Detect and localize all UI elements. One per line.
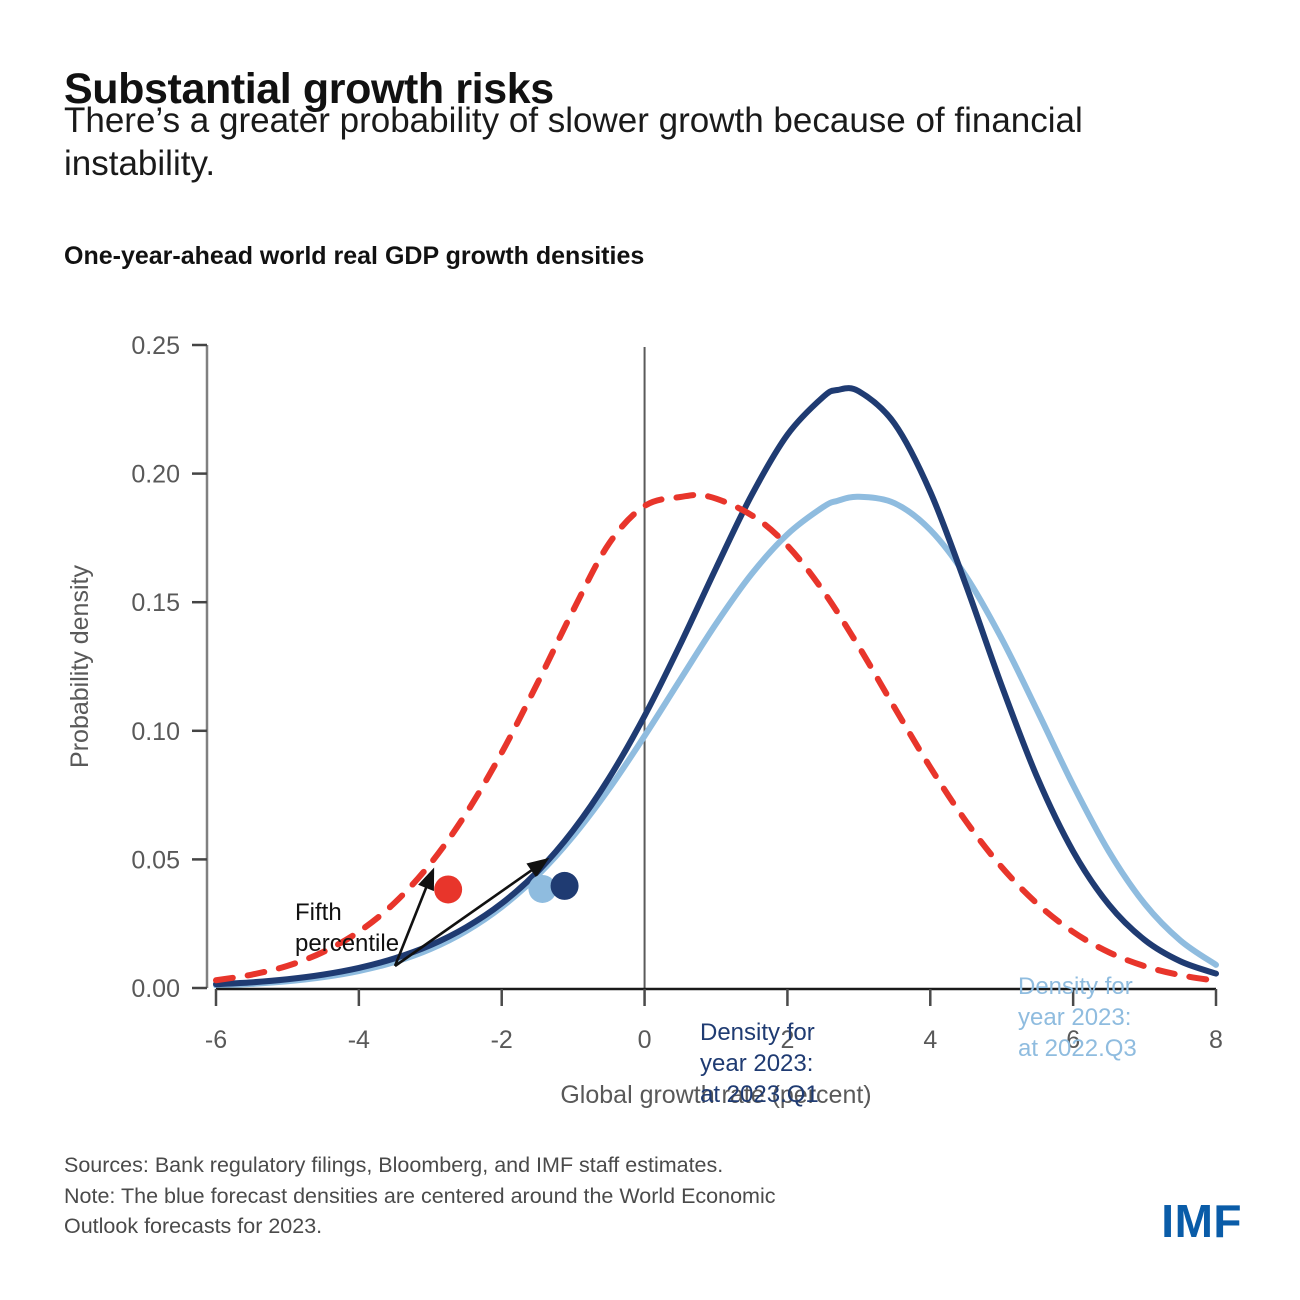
chart-heading: One-year-ahead world real GDP growth den…	[64, 242, 644, 271]
x-tick-label: -6	[205, 1026, 227, 1054]
marker-fifth-percentile-2023q1	[551, 872, 579, 900]
footnotes: Sources: Bank regulatory filings, Bloomb…	[64, 1150, 1004, 1242]
page-subtitle: There’s a greater probability of slower …	[64, 100, 1164, 185]
density-2022q3-label: Density foryear 2023:at 2022.Q3	[1018, 973, 1137, 1062]
fifth-percentile-label: Fifthpercentile	[295, 899, 399, 957]
x-tick-label: -4	[348, 1026, 370, 1054]
x-tick-label: 8	[1209, 1026, 1223, 1054]
series-line-0	[216, 388, 1216, 984]
y-tick-label: 0.20	[131, 461, 180, 489]
y-tick-label: 0.15	[131, 589, 180, 617]
y-tick-label: 0.10	[131, 718, 180, 746]
chart-page: Substantial growth risks There’s a great…	[0, 0, 1300, 1300]
imf-logo: IMF	[1161, 1194, 1242, 1248]
y-tick-label: 0.05	[131, 846, 180, 874]
density-2023q1-label: Density foryear 2023:at 2023.Q1	[700, 1019, 819, 1108]
y-tick-label: 0.00	[131, 975, 180, 1003]
y-axis-title: Probability density	[66, 565, 94, 768]
marker-fifth-percentile-severe-downside	[434, 875, 462, 903]
x-tick-label: 4	[923, 1026, 937, 1054]
y-tick-label: 0.25	[131, 332, 180, 360]
x-tick-label: -2	[491, 1026, 513, 1054]
chart-svg: 0.000.050.100.150.200.25Probability dens…	[0, 300, 1300, 1130]
note-text: Note: The blue forecast densities are ce…	[64, 1181, 1004, 1242]
density-chart: 0.000.050.100.150.200.25Probability dens…	[0, 300, 1300, 1130]
sources-text: Sources: Bank regulatory filings, Bloomb…	[64, 1150, 1004, 1181]
x-tick-label: 0	[638, 1026, 652, 1054]
